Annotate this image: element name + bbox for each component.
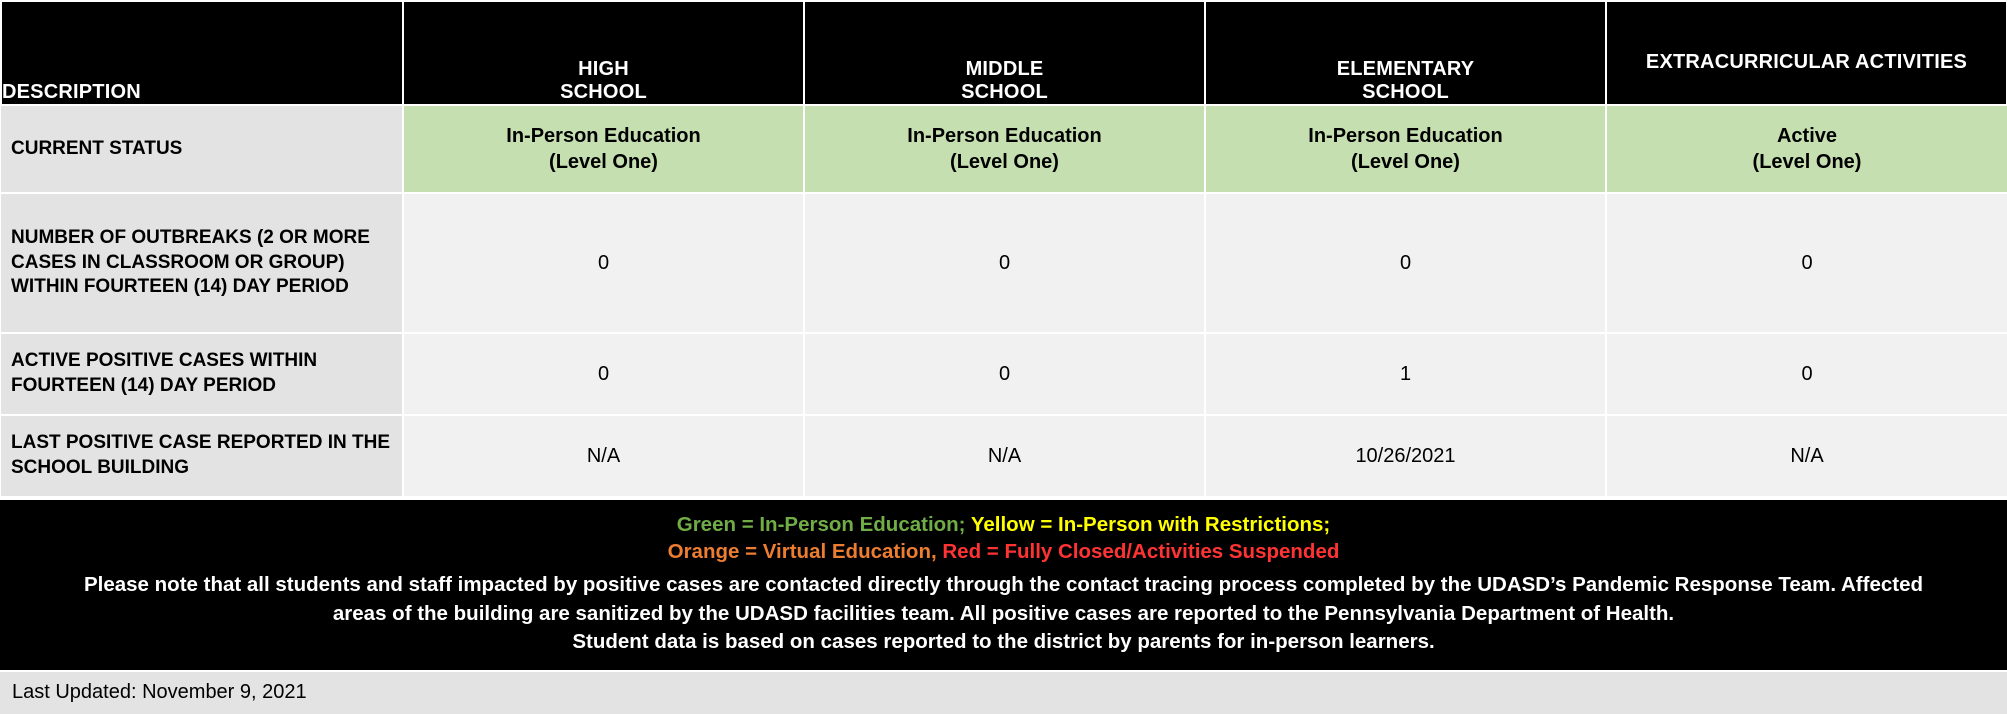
last-case-value-middle-school: N/A	[804, 415, 1205, 497]
status-badge-middle-school-line1: In-Person Education	[809, 123, 1200, 149]
status-badge-high-school-line1: In-Person Education	[408, 123, 799, 149]
status-badge-high-school: In-Person Education (Level One)	[403, 105, 804, 193]
outbreaks-value-extracurricular-activities: 0	[1606, 193, 2007, 333]
legend-and-note-panel: Green = In-Person Education; Yellow = In…	[0, 498, 2007, 670]
last-case-value-high-school: N/A	[403, 415, 804, 497]
outbreaks-value-high-school: 0	[403, 193, 804, 333]
active-cases-value-extracurricular-activities: 0	[1606, 333, 2007, 415]
note-text-line3: Student data is based on cases reported …	[22, 628, 1985, 656]
column-header-middle-school-line1: MIDDLE	[805, 58, 1204, 81]
row-label-last-positive-case: LAST POSITIVE CASE REPORTED IN THE SCHOO…	[1, 415, 403, 497]
active-cases-value-high-school: 0	[403, 333, 804, 415]
column-header-high-school-line1: HIGH	[404, 58, 803, 81]
legend-orange-label: Orange = Virtual Education,	[668, 540, 937, 563]
column-header-extracurricular-activities-line1: EXTRACURRICULAR ACTIVITIES	[1607, 51, 2006, 74]
legend-line-2: Orange = Virtual Education, Red = Fully …	[22, 539, 1985, 566]
school-status-table: DESCRIPTION HIGH SCHOOL MIDDLE SCHOOL EL…	[0, 0, 2007, 498]
status-badge-extracurricular-activities: Active (Level One)	[1606, 105, 2007, 193]
last-updated-bar: Last Updated: November 9, 2021	[0, 670, 2007, 714]
table-head: DESCRIPTION HIGH SCHOOL MIDDLE SCHOOL EL…	[1, 1, 2007, 105]
row-label-active-positive-cases: ACTIVE POSITIVE CASES WITHIN FOURTEEN (1…	[1, 333, 403, 415]
active-cases-value-middle-school: 0	[804, 333, 1205, 415]
column-header-description-label: DESCRIPTION	[2, 81, 141, 103]
status-badge-middle-school-line2: (Level One)	[809, 149, 1200, 175]
note-text-line1: Please note that all students and staff …	[22, 571, 1985, 599]
legend-line-1: Green = In-Person Education; Yellow = In…	[22, 512, 1985, 539]
table-header-row: DESCRIPTION HIGH SCHOOL MIDDLE SCHOOL EL…	[1, 1, 2007, 105]
status-badge-elementary-school-line1: In-Person Education	[1210, 123, 1601, 149]
column-header-middle-school: MIDDLE SCHOOL	[804, 1, 1205, 105]
table-row-last-positive-case: LAST POSITIVE CASE REPORTED IN THE SCHOO…	[1, 415, 2007, 497]
status-badge-middle-school: In-Person Education (Level One)	[804, 105, 1205, 193]
column-header-high-school-line2: SCHOOL	[404, 81, 803, 104]
table-body: CURRENT STATUS In-Person Education (Leve…	[1, 105, 2007, 497]
status-badge-elementary-school-line2: (Level One)	[1210, 149, 1601, 175]
status-badge-extracurricular-activities-line2: (Level One)	[1611, 149, 2003, 175]
table-row-active-positive-cases: ACTIVE POSITIVE CASES WITHIN FOURTEEN (1…	[1, 333, 2007, 415]
status-badge-high-school-line2: (Level One)	[408, 149, 799, 175]
last-case-value-extracurricular-activities: N/A	[1606, 415, 2007, 497]
last-updated-label: Last Updated: November 9, 2021	[12, 681, 307, 703]
column-header-extracurricular-activities: EXTRACURRICULAR ACTIVITIES	[1606, 1, 2007, 105]
column-header-high-school: HIGH SCHOOL	[403, 1, 804, 105]
column-header-elementary-school: ELEMENTARY SCHOOL	[1205, 1, 1606, 105]
note-text-line2: areas of the building are sanitized by t…	[22, 600, 1985, 628]
outbreaks-value-elementary-school: 0	[1205, 193, 1606, 333]
column-header-middle-school-line2: SCHOOL	[805, 81, 1204, 104]
active-cases-value-elementary-school: 1	[1205, 333, 1606, 415]
row-label-outbreaks: NUMBER OF OUTBREAKS (2 OR MORE CASES IN …	[1, 193, 403, 333]
status-badge-extracurricular-activities-line1: Active	[1611, 123, 2003, 149]
column-header-description: DESCRIPTION	[1, 1, 403, 105]
row-label-current-status: CURRENT STATUS	[1, 105, 403, 193]
table-row-current-status: CURRENT STATUS In-Person Education (Leve…	[1, 105, 2007, 193]
last-case-value-elementary-school: 10/26/2021	[1205, 415, 1606, 497]
legend-red-label: Red = Fully Closed/Activities Suspended	[942, 540, 1339, 563]
column-header-elementary-school-line1: ELEMENTARY	[1206, 58, 1605, 81]
legend-yellow-label: Yellow = In-Person with Restrictions;	[971, 513, 1330, 536]
status-badge-elementary-school: In-Person Education (Level One)	[1205, 105, 1606, 193]
covid-status-dashboard: DESCRIPTION HIGH SCHOOL MIDDLE SCHOOL EL…	[0, 0, 2007, 655]
column-header-elementary-school-line2: SCHOOL	[1206, 81, 1605, 104]
table-row-outbreaks: NUMBER OF OUTBREAKS (2 OR MORE CASES IN …	[1, 193, 2007, 333]
note-text: Please note that all students and staff …	[22, 571, 1985, 656]
legend-green-label: Green = In-Person Education;	[677, 513, 966, 536]
outbreaks-value-middle-school: 0	[804, 193, 1205, 333]
